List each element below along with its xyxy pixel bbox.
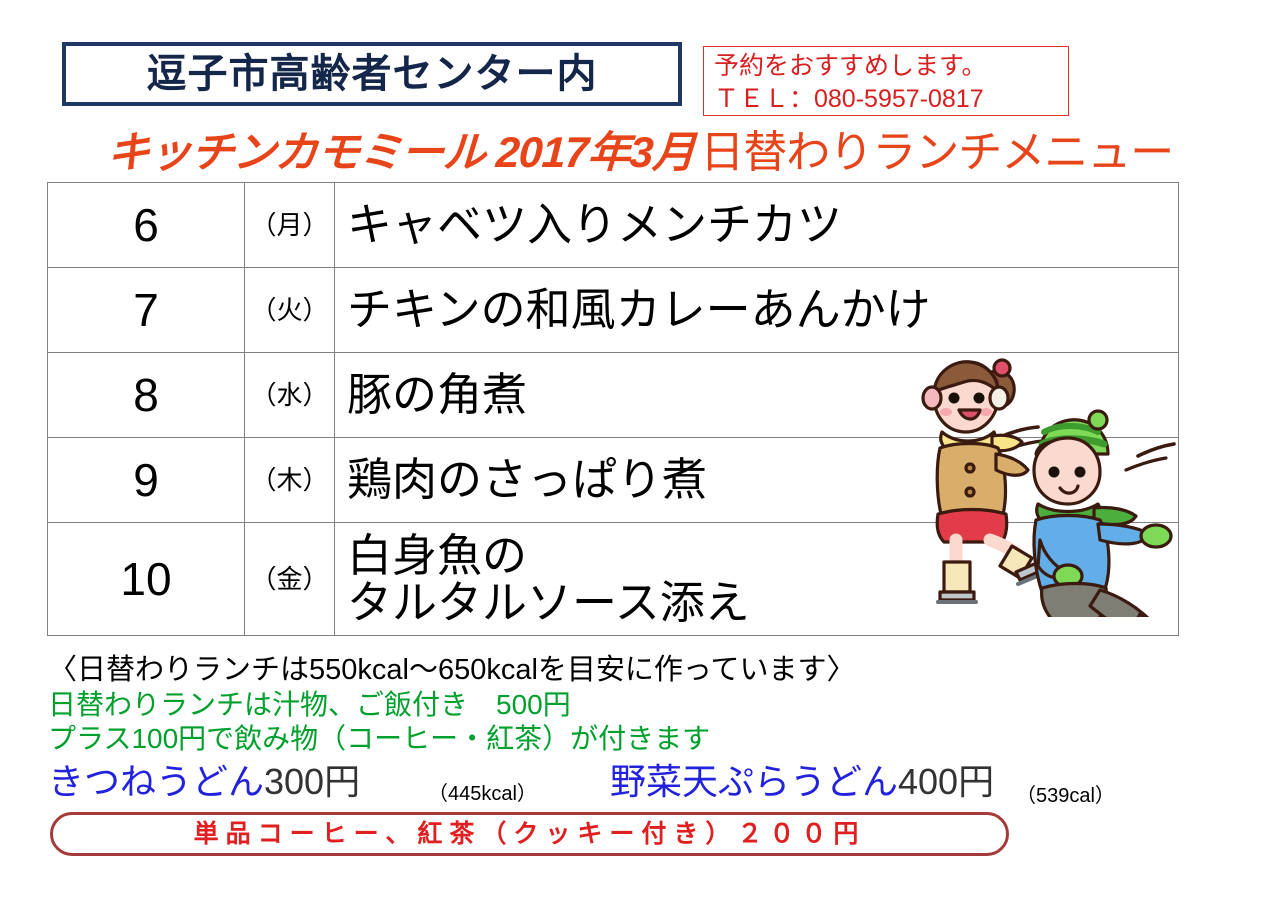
drink-option-note: プラス100円で飲み物（コーヒー・紅茶）が付きます [48, 722, 1238, 756]
table-row: 6 （月） キャベツ入りメンチカツ [48, 183, 1179, 268]
menu-dish-name: 鶏肉のさっぱり煮 [335, 438, 1179, 523]
menu-day-of-week: （木） [245, 438, 335, 523]
kitsune-udon-name: きつねうどん [48, 764, 264, 800]
menu-day-number: 6 [48, 183, 245, 268]
page-title: キッチンカモミール 2017年3月 日替わりランチメニュー [0, 127, 1280, 179]
reservation-tel-box: 予約をおすすめします。 ＴＥＬ：080-5957-0817 [703, 46, 1069, 116]
telephone-number-text: ＴＥＬ：080-5957-0817 [714, 83, 1068, 116]
yasai-tempura-udon-item: 野菜天ぷらうどん 400円 [610, 764, 994, 800]
kcal-range-note: 〈日替わりランチは550kcal〜650kcalを目安に作っています〉 [48, 652, 1238, 688]
menu-day-of-week: （火） [245, 268, 335, 353]
table-row: 7 （火） チキンの和風カレーあんかけ [48, 268, 1179, 353]
menu-day-of-week: （水） [245, 353, 335, 438]
venue-title-text: 逗子市高齢者センター内 [147, 54, 598, 94]
menu-day-number: 10 [48, 523, 245, 636]
menu-dish-name: チキンの和風カレーあんかけ [335, 268, 1179, 353]
menu-dish-name: 白身魚の タルタルソース添え [335, 523, 1179, 636]
menu-dish-name: 豚の角煮 [335, 353, 1179, 438]
venue-title-box: 逗子市高齢者センター内 [62, 42, 682, 106]
udon-price-row: きつねうどん 300円 （445kcal） 野菜天ぷらうどん 400円 （539… [48, 758, 1238, 808]
menu-day-number: 8 [48, 353, 245, 438]
page-title-brand: キッチンカモミール 2017年3月 [106, 132, 696, 175]
reservation-note-text: 予約をおすすめします。 [714, 50, 1068, 83]
yasai-tempura-udon-name: 野菜天ぷらうどん [610, 764, 898, 800]
kitsune-udon-item: きつねうどん 300円 [48, 764, 360, 800]
menu-day-of-week: （月） [245, 183, 335, 268]
yasai-tempura-udon-kcal: （539cal） [1016, 786, 1115, 806]
kitsune-udon-kcal: （445kcal） [428, 784, 537, 804]
table-row: 10 （金） 白身魚の タルタルソース添え [48, 523, 1179, 636]
table-row: 8 （水） 豚の角煮 [48, 353, 1179, 438]
page-title-subtitle: 日替わりランチメニュー [700, 131, 1173, 175]
yasai-tempura-udon-price: 400円 [898, 764, 994, 800]
header-region: 逗子市高齢者センター内 予約をおすすめします。 ＴＥＬ：080-5957-081… [0, 0, 1280, 126]
coffee-price-text: 単品コーヒー、紅茶（クッキー付き）２００円 [194, 822, 866, 847]
menu-day-number: 7 [48, 268, 245, 353]
lunch-set-note: 日替わりランチは汁物、ご飯付き 500円 [48, 688, 1238, 722]
menu-day-number: 9 [48, 438, 245, 523]
coffee-price-banner: 単品コーヒー、紅茶（クッキー付き）２００円 [50, 812, 1009, 856]
menu-dish-name: キャベツ入りメンチカツ [335, 183, 1179, 268]
notes-region: 〈日替わりランチは550kcal〜650kcalを目安に作っています〉 日替わり… [48, 652, 1238, 808]
table-row: 9 （木） 鶏肉のさっぱり煮 [48, 438, 1179, 523]
menu-dish-line-1: 白身魚の [347, 532, 1178, 579]
menu-day-of-week: （金） [245, 523, 335, 636]
menu-dish-line-2: タルタルソース添え [347, 579, 1178, 626]
daily-lunch-menu-table: 6 （月） キャベツ入りメンチカツ 7 （火） チキンの和風カレーあんかけ 8 … [47, 182, 1179, 636]
kitsune-udon-price: 300円 [264, 764, 360, 800]
